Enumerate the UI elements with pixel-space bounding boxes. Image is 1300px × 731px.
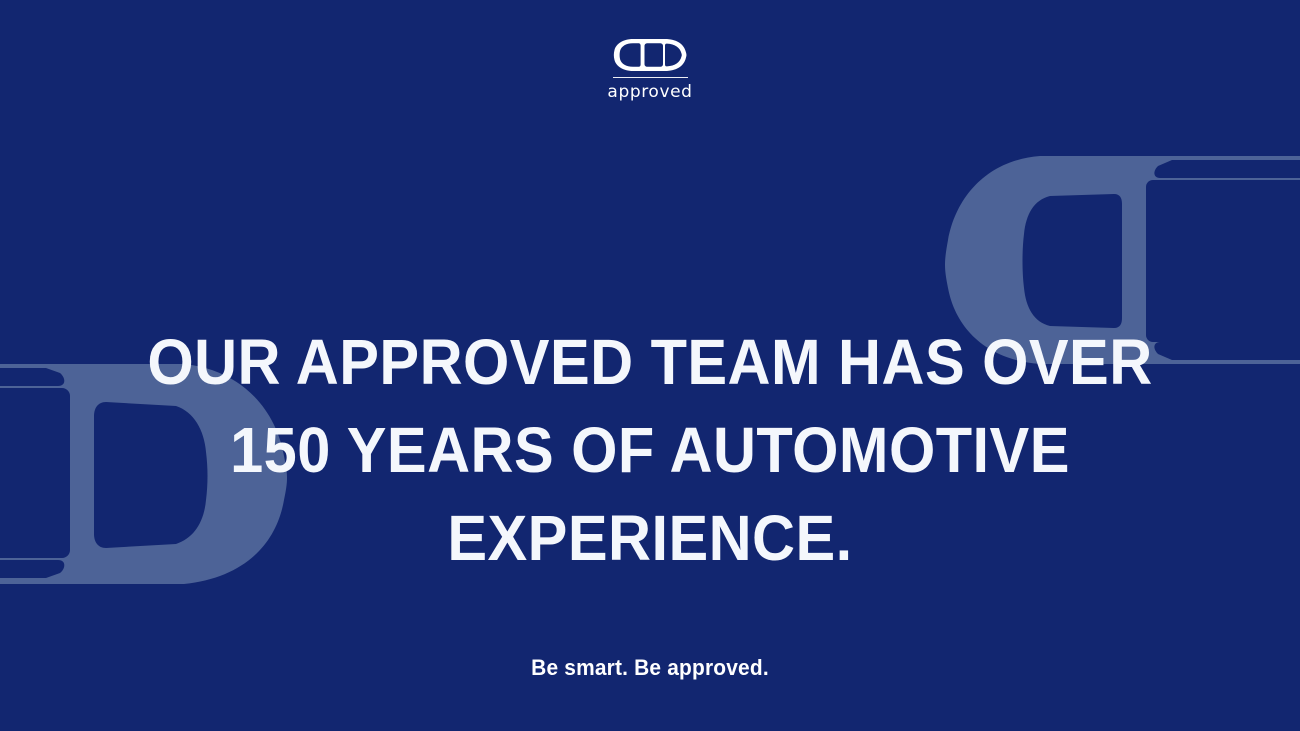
headline-line-2: 150 YEARS OF AUTOMOTIVE [139,406,1162,494]
logo-divider [613,77,688,78]
tagline: Be smart. Be approved. [33,655,1268,681]
headline-line-3: EXPERIENCE. [139,494,1162,582]
logo-wordmark: approved [607,84,692,101]
headline-line-1: OUR APPROVED TEAM HAS OVER [139,318,1162,406]
car-top-view-icon [613,38,687,72]
headline: OUR APPROVED TEAM HAS OVER 150 YEARS OF … [46,318,1255,582]
brand-logo: approved [0,38,1300,101]
slide-canvas: approved OUR APPROVED TEAM HAS OVER 150 … [0,0,1300,731]
